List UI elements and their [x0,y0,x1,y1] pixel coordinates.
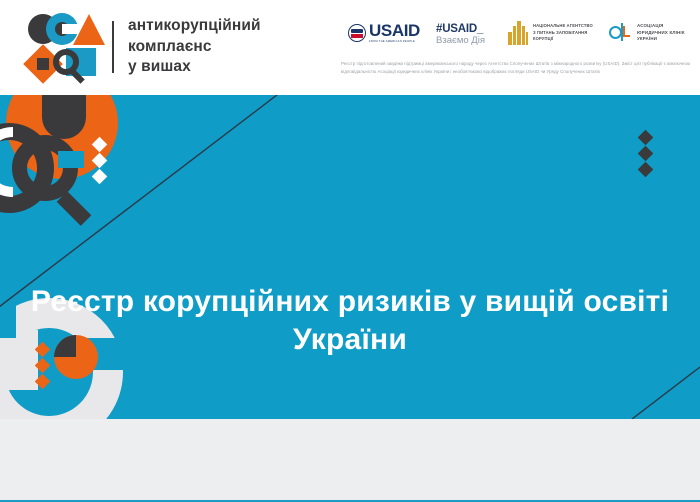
vzaemodia-subtitle: Взаємо Дія [436,36,485,47]
brand-logo[interactable]: антикорупційний комплаєнс у вишах [26,12,261,82]
decor-orange-circle-inner-dark [42,95,86,139]
nazk-line-3: КОРУПЦІЇ [533,36,593,42]
association-line-2: ЮРИДИЧНИХ КЛІНІК [637,30,685,37]
hero-banner: Реєстр корупційних ризиків у вищій освіт… [0,95,700,419]
nazk-wordmark: НАЦІОНАЛЬНЕ АГЕНТСТВО З ПИТАНЬ ЗАПОБІГАН… [533,23,593,42]
brand-divider [112,21,114,73]
site-header: антикорупційний комплаєнс у вишах USAID … [0,0,700,95]
brand-line-2: комплаєнс [128,37,261,57]
ukraine-trident-icon [508,21,528,45]
brand-wordmark: антикорупційний комплаєнс у вишах [128,16,261,77]
category-nav-band: освітнє середовище наукове середовище ад… [0,419,700,502]
page-title: Реєстр корупційних ризиків у вищій освіт… [0,283,700,359]
decor-white-diamond-3 [92,169,108,185]
decor-magnifier-notch [58,151,84,168]
usaid-wordmark: USAID [369,22,420,39]
partner-logo-nazk[interactable]: НАЦІОНАЛЬНЕ АГЕНТСТВО З ПИТАНЬ ЗАПОБІГАН… [508,21,593,45]
vzaemodia-hashtag: #USAID_ [436,23,483,35]
usaid-tagline: FROM THE AMERICAN PEOPLE [369,40,420,43]
usaid-seal-icon [348,24,366,42]
decor-dark-diamond-3 [638,162,654,178]
partner-logo-legal-clinics-association[interactable]: АСОЦІАЦІЯ ЮРИДИЧНИХ КЛІНІК УКРАЇНИ [608,22,685,44]
decor-magnifier-handle [57,191,92,226]
page-root: антикорупційний комплаєнс у вишах USAID … [0,0,700,502]
logo-orange-triangle-icon [73,14,105,45]
partner-logos: USAID FROM THE AMERICAN PEOPLE #USAID_ В… [340,18,692,54]
usaid-disclaimer-text: Реєстр підготовлений завдяки підтримці а… [341,60,693,76]
brand-line-1: антикорупційний [128,16,261,36]
association-line-1: АСОЦІАЦІЯ [637,23,685,30]
decor-dark-diamond-1 [638,130,654,146]
decor-dark-diamond-2 [638,146,654,162]
association-line-3: УКРАЇНИ [637,36,685,43]
association-wordmark: АСОЦІАЦІЯ ЮРИДИЧНИХ КЛІНІК УКРАЇНИ [637,23,685,43]
partner-logo-usaid[interactable]: USAID FROM THE AMERICAN PEOPLE [348,22,420,43]
partner-logo-usaid-vzaemodia[interactable]: #USAID_ Взаємо Дія [436,23,485,47]
brand-line-3: у вишах [128,57,261,77]
anticorruption-compliance-logo-icon [26,12,104,82]
al-monogram-icon [608,22,632,44]
nazk-line-1: НАЦІОНАЛЬНЕ АГЕНТСТВО [533,23,593,29]
